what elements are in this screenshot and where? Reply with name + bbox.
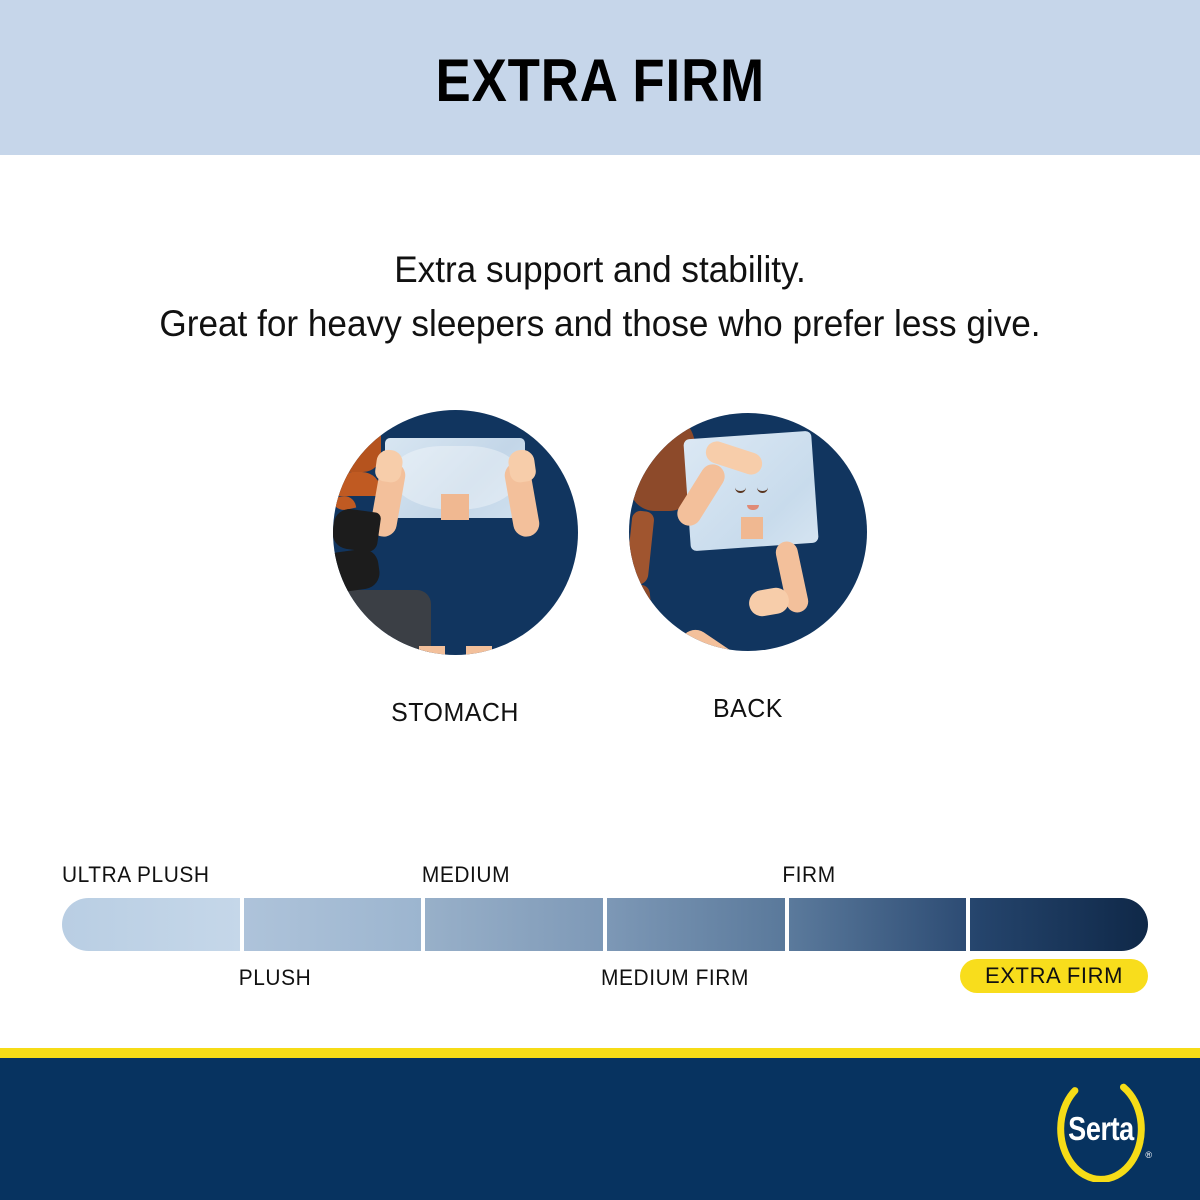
sleep-position-label-back: BACK <box>628 693 868 724</box>
firmness-label-extra-firm-selected[interactable]: EXTRA FIRM <box>960 959 1148 993</box>
firmness-label-medium-firm: MEDIUM FIRM <box>601 965 749 991</box>
firmness-scale: ULTRA PLUSH MEDIUM FIRM PLUSH MEDIUM FIR… <box>62 862 1148 987</box>
neck <box>441 494 469 520</box>
tshirt <box>333 590 431 655</box>
sleep-positions-group: STOMACH BACK <box>0 410 1200 760</box>
firmness-labels-bottom: PLUSH MEDIUM FIRM EXTRA FIRM <box>62 951 1148 987</box>
firmness-segment-plush[interactable] <box>244 898 422 951</box>
firmness-labels-top: ULTRA PLUSH MEDIUM FIRM <box>62 862 1148 898</box>
back-sleeper-illustration <box>629 413 867 651</box>
firmness-segment-medium[interactable] <box>425 898 603 951</box>
right-leg <box>466 646 492 655</box>
subtitle-block: Extra support and stability. Great for h… <box>30 243 1170 351</box>
neck <box>741 517 763 539</box>
bent-thigh <box>675 624 750 651</box>
subtitle-line-1: Extra support and stability. <box>30 243 1170 297</box>
head-hair <box>333 410 381 472</box>
page-footer: Serta ® <box>0 1058 1200 1200</box>
firmness-label-ultra-plush: ULTRA PLUSH <box>62 862 210 888</box>
firmness-label-firm: FIRM <box>782 862 835 888</box>
hand-on-stomach <box>747 586 791 619</box>
right-sleeve <box>333 547 382 593</box>
firmness-label-medium: MEDIUM <box>422 862 510 888</box>
left-sleeve <box>333 507 382 553</box>
right-hand <box>506 448 536 483</box>
left-leg <box>419 646 445 655</box>
left-hand <box>373 448 403 483</box>
page-title: EXTRA FIRM <box>435 46 765 115</box>
firmness-segment-extra-firm[interactable] <box>970 898 1148 951</box>
serta-logo[interactable]: Serta ® <box>1048 1076 1154 1182</box>
page-header: EXTRA FIRM <box>0 0 1200 155</box>
footer-accent-stripe <box>0 1048 1200 1058</box>
firmness-segment-ultra-plush[interactable] <box>62 898 240 951</box>
subtitle-line-2: Great for heavy sleepers and those who p… <box>30 297 1170 351</box>
stomach-sleeper-illustration <box>333 410 578 655</box>
sleep-position-label-stomach: STOMACH <box>335 697 575 728</box>
firmness-segment-firm[interactable] <box>789 898 967 951</box>
sleep-position-stomach: STOMACH <box>330 410 580 728</box>
sleep-position-back: BACK <box>623 410 873 724</box>
firmness-segment-medium-firm[interactable] <box>607 898 785 951</box>
registered-trademark-icon: ® <box>1145 1150 1152 1160</box>
firmness-label-plush: PLUSH <box>239 965 312 991</box>
serta-wordmark: Serta <box>1058 1076 1145 1182</box>
firmness-scale-bar[interactable] <box>62 898 1148 951</box>
hair-right-strand <box>629 584 657 651</box>
hair-top <box>333 472 381 496</box>
hair-left-strand <box>629 510 655 586</box>
